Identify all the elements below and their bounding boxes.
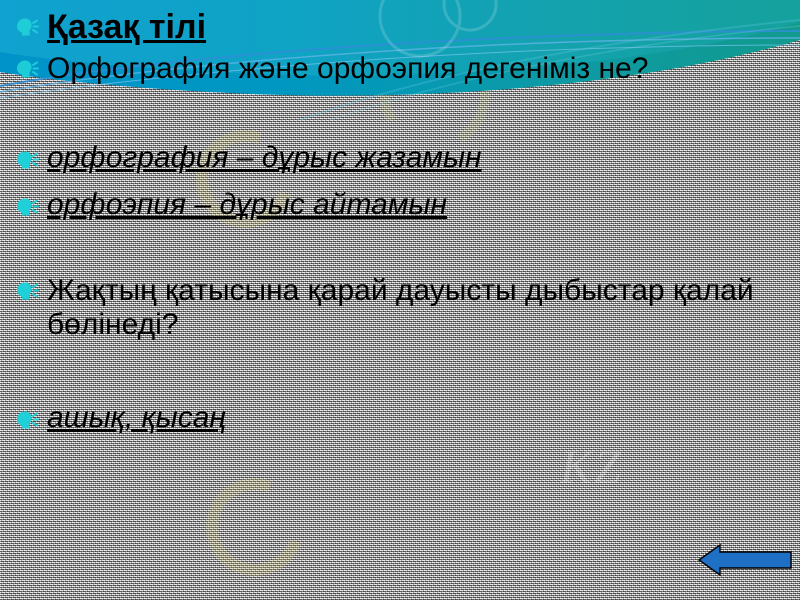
slide-canvas: AZ KZ [0, 0, 800, 600]
question-line-1: Орфография және орфоэпия дегеніміз не? [14, 52, 648, 86]
speaking-head-icon [14, 14, 40, 40]
answer-text-1: орфография – дұрыс жазамын [47, 143, 482, 173]
answer-text-2: орфоэпия – дұрыс айтамын [47, 190, 447, 220]
slide-content: Қазақ тілі Орфография және орфоэпия деге… [0, 0, 800, 600]
speaking-head-icon [14, 147, 40, 173]
answer-line-3: ашық, қысаң [14, 403, 226, 433]
page-title: Қазақ тілі [47, 10, 206, 44]
speaking-head-icon [14, 407, 40, 433]
question-text-2: Жақтың қатысына қарай дауысты дыбыстар қ… [47, 274, 792, 341]
speaking-head-icon [14, 56, 40, 82]
answer-line-1: орфография – дұрыс жазамын [14, 143, 482, 173]
speaking-head-icon [14, 278, 40, 304]
speaking-head-icon [14, 194, 40, 220]
question-line-2: Жақтың қатысына қарай дауысты дыбыстар қ… [14, 274, 792, 341]
answer-line-2: орфоэпия – дұрыс айтамын [14, 190, 447, 220]
title-line: Қазақ тілі [14, 10, 206, 44]
question-text-1: Орфография және орфоэпия дегеніміз не? [47, 52, 648, 86]
answer-text-3: ашық, қысаң [47, 403, 226, 433]
back-arrow-button[interactable] [698, 542, 792, 578]
